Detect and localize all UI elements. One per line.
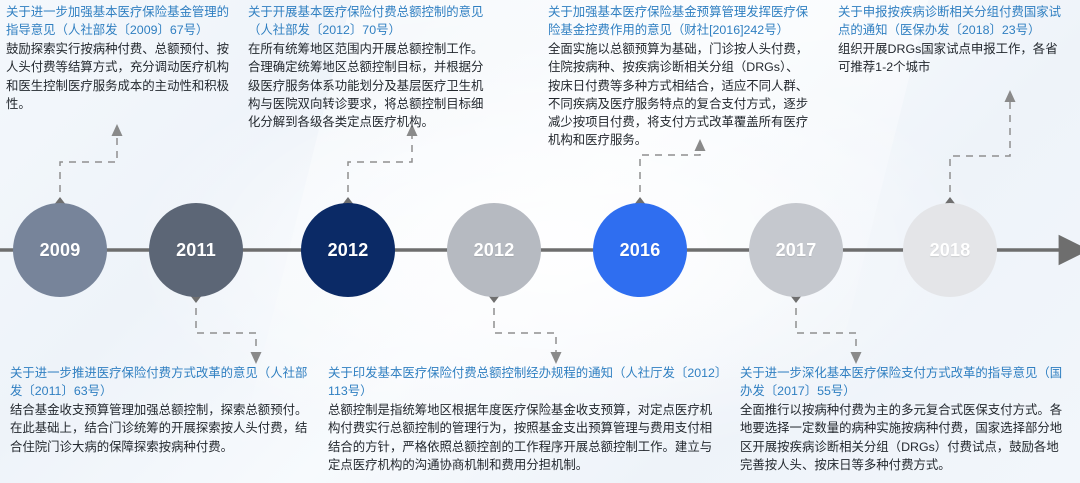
policy-title: 关于开展基本医疗保险付费总额控制的意见（人社部发〔2012〕70号） — [248, 4, 492, 39]
connector-2016 — [635, 139, 706, 210]
timeline-node-2018[interactable]: 2018 — [903, 203, 997, 297]
policy-body: 结合基金收支预算管理加强总额控制，探索总额预付。在此基础上，结合门诊统筹的开展探… — [10, 401, 310, 456]
policy-body: 全面推行以按病种付费为主的多元复合式医保支付方式。各地要选择一定数量的病种实施按… — [740, 401, 1070, 474]
policy-body: 组织开展DRGs国家试点申报工作，各省可推荐1-2个城市 — [838, 40, 1066, 76]
policy-body: 在所有统筹地区范围内开展总额控制工作。合理确定统筹地区总额控制目标，并根据分级医… — [248, 40, 492, 131]
policy-title: 关于加强基本医疗保险基金预算管理发挥医疗保险基金控费作用的意见（财社[2016]… — [548, 4, 810, 39]
connector-2017 — [791, 290, 862, 364]
policy-body: 全面实施以总额预算为基础，门诊按人头付费，住院按病种、按疾病诊断相关分组（DRG… — [548, 40, 810, 149]
policy-body: 总额控制是指统筹地区根据年度医疗保险基金收支预算，对定点医疗机构付费实行总额控制… — [328, 401, 724, 474]
node-year-label: 2011 — [176, 240, 216, 261]
timeline-infographic: 2009 2011 2012 2012 2016 2017 2018 关于进一步… — [0, 0, 1080, 483]
connector-2018 — [945, 90, 1016, 210]
timeline-node-2011[interactable]: 2011 — [149, 203, 243, 297]
policy-title: 关于进一步深化基本医疗保险支付方式改革的指导意见（国办发〔2017〕55号） — [740, 365, 1070, 400]
node-year-label: 2016 — [620, 240, 661, 261]
policy-title: 关于进一步加强基本医疗保险基金管理的指导意见（人社部发〔2009〕67号） — [6, 4, 234, 39]
policy-title: 关于申报按疾病诊断相关分组付费国家试点的通知（医保办发〔2018〕23号） — [838, 4, 1066, 39]
timeline-node-2012-navy[interactable]: 2012 — [301, 203, 395, 297]
node-year-label: 2012 — [328, 240, 369, 261]
policy-title: 关于进一步推进医疗保险付费方式改革的意见（人社部发〔2011〕63号） — [10, 365, 310, 400]
connector-2012-gray — [489, 290, 562, 364]
policy-block-2012-navy: 关于开展基本医疗保险付费总额控制的意见（人社部发〔2012〕70号） 在所有统筹… — [248, 4, 492, 131]
policy-block-2017: 关于进一步深化基本医疗保险支付方式改革的指导意见（国办发〔2017〕55号） 全… — [740, 365, 1070, 474]
policy-block-2018: 关于申报按疾病诊断相关分组付费国家试点的通知（医保办发〔2018〕23号） 组织… — [838, 4, 1066, 77]
connector-2009 — [55, 124, 123, 210]
timeline-node-2009[interactable]: 2009 — [13, 203, 107, 297]
policy-block-2011: 关于进一步推进医疗保险付费方式改革的意见（人社部发〔2011〕63号） 结合基金… — [10, 365, 310, 456]
policy-block-2009: 关于进一步加强基本医疗保险基金管理的指导意见（人社部发〔2009〕67号） 鼓励… — [6, 4, 234, 113]
node-year-label: 2009 — [40, 240, 81, 261]
node-year-label: 2018 — [930, 240, 971, 261]
policy-body: 鼓励探索实行按病种付费、总额预付、按人头付费等结算方式，充分调动医疗机构和医生控… — [6, 40, 234, 113]
connector-2011 — [191, 290, 262, 364]
timeline-node-2012-gray[interactable]: 2012 — [447, 203, 541, 297]
policy-block-2016: 关于加强基本医疗保险基金预算管理发挥医疗保险基金控费作用的意见（财社[2016]… — [548, 4, 810, 149]
policy-block-2012-gray: 关于印发基本医疗保险付费总额控制经办规程的通知（人社厅发〔2012〕113号） … — [328, 365, 724, 474]
policy-title: 关于印发基本医疗保险付费总额控制经办规程的通知（人社厅发〔2012〕113号） — [328, 365, 724, 400]
connector-2012-navy — [343, 124, 418, 210]
node-year-label: 2012 — [474, 240, 515, 261]
timeline-node-2017[interactable]: 2017 — [749, 203, 843, 297]
node-year-label: 2017 — [776, 240, 817, 261]
timeline-node-2016[interactable]: 2016 — [593, 203, 687, 297]
